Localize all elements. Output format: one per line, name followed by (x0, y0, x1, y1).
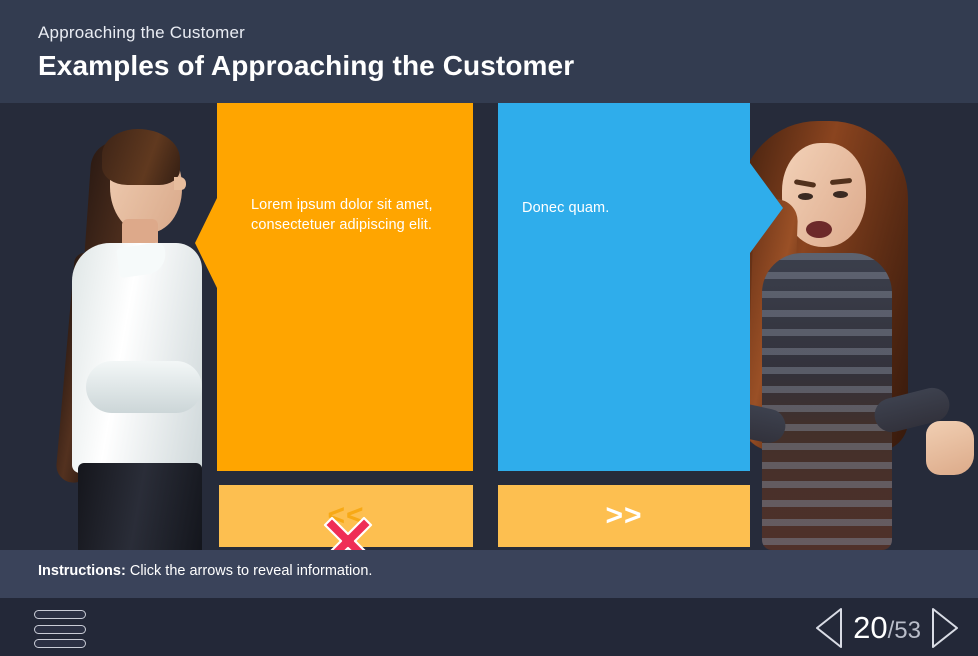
speech-panel-left-text: Lorem ipsum dolor sit amet, consectetuer… (251, 195, 451, 235)
instructions-label: Instructions: (38, 563, 126, 579)
triangle-right-icon[interactable] (930, 607, 960, 649)
mouth-shape (806, 221, 832, 238)
nose-shape (174, 177, 186, 190)
right-hand-shape (926, 421, 974, 475)
hair-top-shape (102, 129, 180, 185)
speech-panel-left: Lorem ipsum dolor sit amet, consectetuer… (195, 103, 473, 471)
pagination-control: 20 /53 (814, 606, 960, 650)
instructions-content: Instructions: Click the arrows to reveal… (38, 563, 372, 579)
employee-woman-image (10, 103, 210, 550)
crossed-arm-shape (86, 361, 202, 413)
current-page-number: 20 (853, 610, 887, 646)
eye-shape (798, 193, 813, 200)
breadcrumb-kicker: Approaching the Customer (38, 23, 245, 43)
reveal-next-button[interactable]: >> (498, 485, 750, 547)
hamburger-menu-icon[interactable] (34, 610, 86, 648)
slide-header: Approaching the Customer Examples of App… (0, 0, 978, 103)
speech-panel-right: Donec quam. (498, 103, 783, 471)
speech-panel-right-text: Donec quam. (522, 198, 737, 218)
triangle-left-icon[interactable] (814, 607, 844, 649)
instructions-bar: Instructions: Click the arrows to reveal… (0, 550, 978, 598)
blouse-shape (72, 243, 202, 473)
slide-footer: 20 /53 (0, 598, 978, 656)
menu-bar-1 (34, 610, 86, 619)
eye-shape (833, 191, 848, 198)
page-counter: 20 /53 (853, 610, 921, 646)
slide-stage: << >> Lorem ipsum dolor sit amet, consec… (0, 103, 978, 550)
skirt-shape (78, 463, 202, 550)
menu-bar-3 (34, 639, 86, 648)
page-title: Examples of Approaching the Customer (38, 50, 574, 82)
x-mark-icon (322, 515, 374, 550)
menu-bar-2 (34, 625, 86, 634)
instructions-text: Click the arrows to reveal information. (130, 563, 373, 579)
total-pages: /53 (888, 617, 921, 645)
slide-canvas: Approaching the Customer Examples of App… (0, 0, 978, 656)
